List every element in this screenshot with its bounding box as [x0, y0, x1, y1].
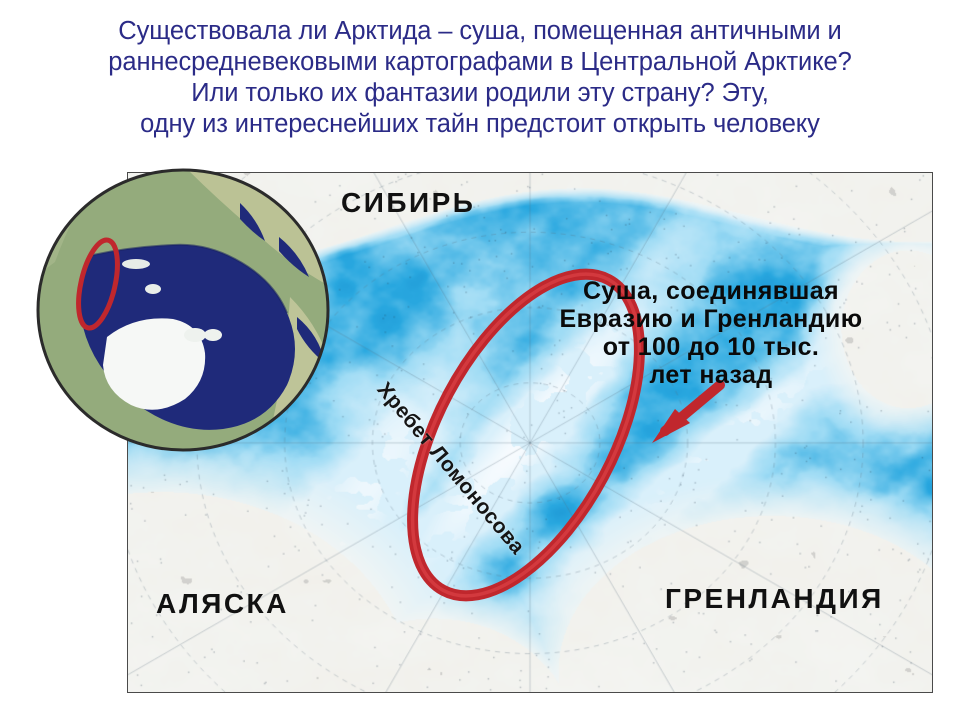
title-line-1: Существовала ли Арктида – суша, помещенн…: [0, 16, 960, 47]
globe-icon: [35, 167, 331, 453]
page-title: Существовала ли Арктида – суша, помещенн…: [0, 16, 960, 140]
title-line-3: Или только их фантазии родили эту страну…: [0, 78, 960, 109]
annotation-line-3: от 100 до 10 тыс.: [546, 333, 876, 361]
globe-inset-svg: [35, 167, 331, 453]
annotation-line-2: Евразию и Гренландию: [546, 305, 876, 333]
map-annotation-text: Суша, соединявшая Евразию и Гренландию о…: [546, 277, 876, 389]
title-line-4: одну из интереснейших тайн предстоит отк…: [0, 109, 960, 140]
annotation-line-4: лет назад: [546, 361, 876, 389]
red-arrow-icon: [652, 385, 720, 443]
annotation-line-1: Суша, соединявшая: [546, 277, 876, 305]
title-line-2: раннесредневековыми картографами в Центр…: [0, 47, 960, 78]
